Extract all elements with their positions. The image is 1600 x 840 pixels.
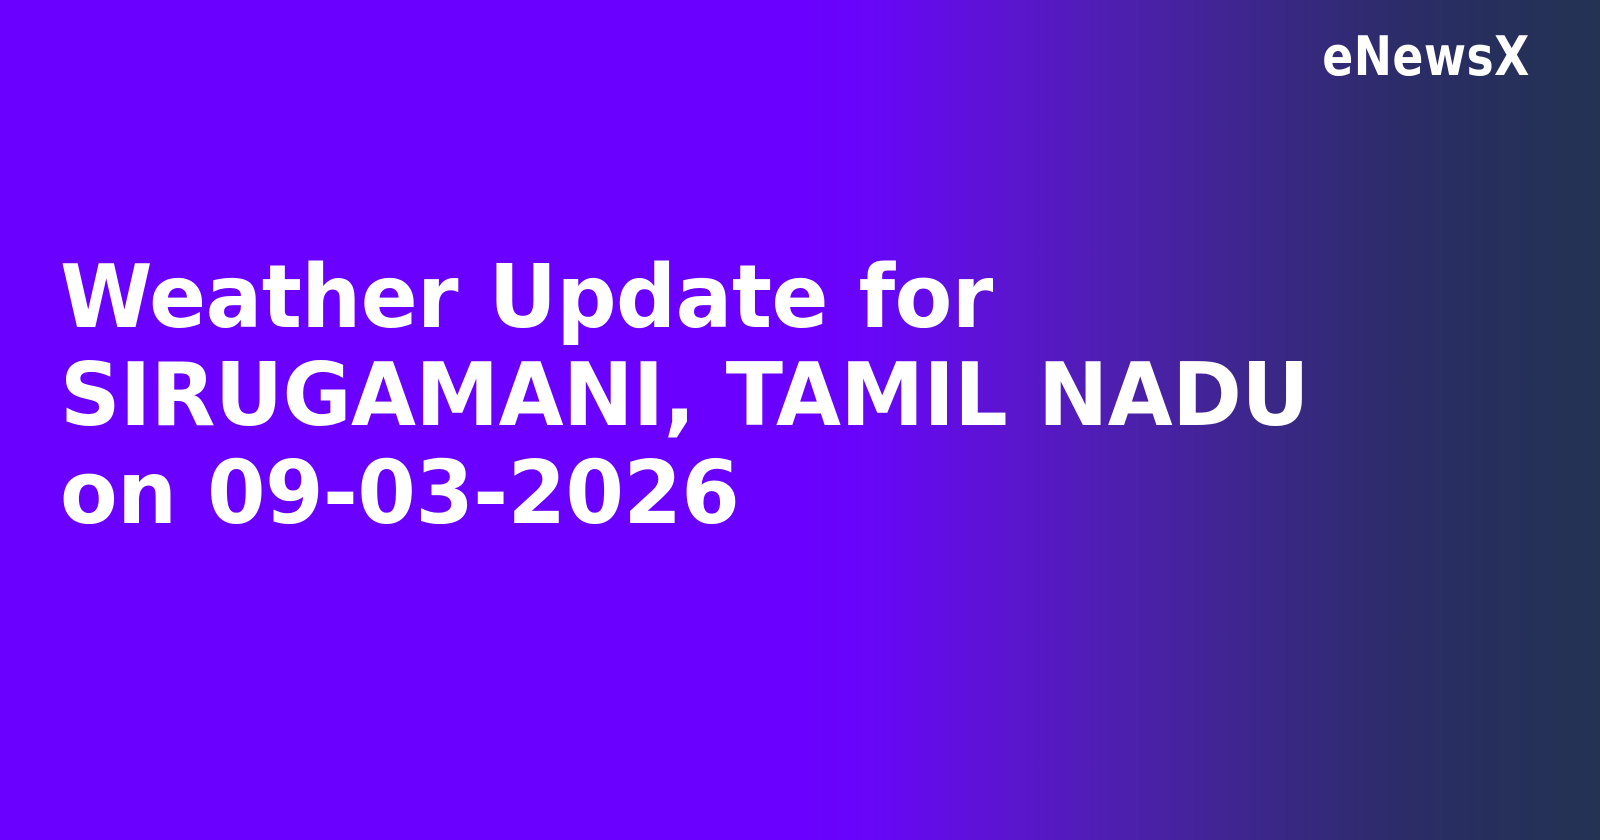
brand-logo[interactable]: eNewsX bbox=[1309, 30, 1530, 84]
brand-wordmark: eNewsX bbox=[1322, 30, 1530, 84]
page-title: Weather Update for SIRUGAMANI, TAMIL NAD… bbox=[60, 248, 1430, 542]
news-card: eNewsX Weather Update for SIRUGAMANI, TA… bbox=[0, 0, 1600, 840]
headline-block: Weather Update for SIRUGAMANI, TAMIL NAD… bbox=[60, 248, 1480, 542]
